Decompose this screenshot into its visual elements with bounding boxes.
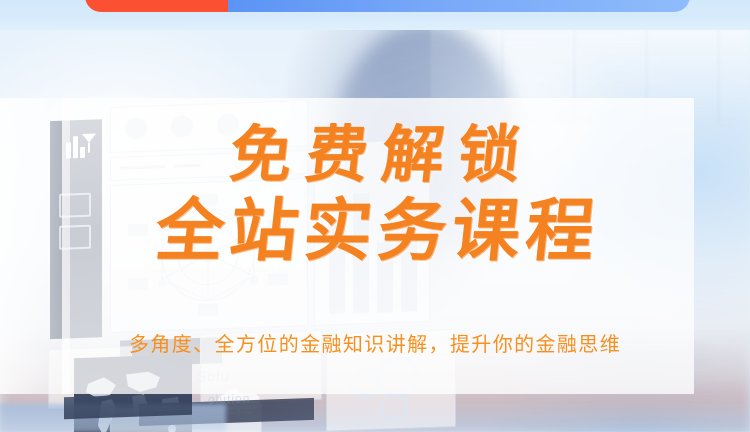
- pill-segment-blue: [228, 0, 690, 12]
- bottom-navy-band: [64, 393, 192, 419]
- top-pill-bar: [85, 0, 690, 12]
- promo-banner: Solu olution 免费解锁 全站实务课程 多角度、全方位的金融知识讲解，…: [0, 0, 750, 432]
- headline-line-2: 全站实务课程: [0, 192, 750, 272]
- gears-icon: [379, 392, 409, 423]
- pill-segment-orange: [85, 0, 228, 12]
- headline-line-1: 免费解锁: [0, 118, 750, 192]
- headline-block: 免费解锁 全站实务课程: [0, 118, 750, 272]
- subtitle-text: 多角度、全方位的金融知识讲解，提升你的金融思维: [0, 328, 750, 357]
